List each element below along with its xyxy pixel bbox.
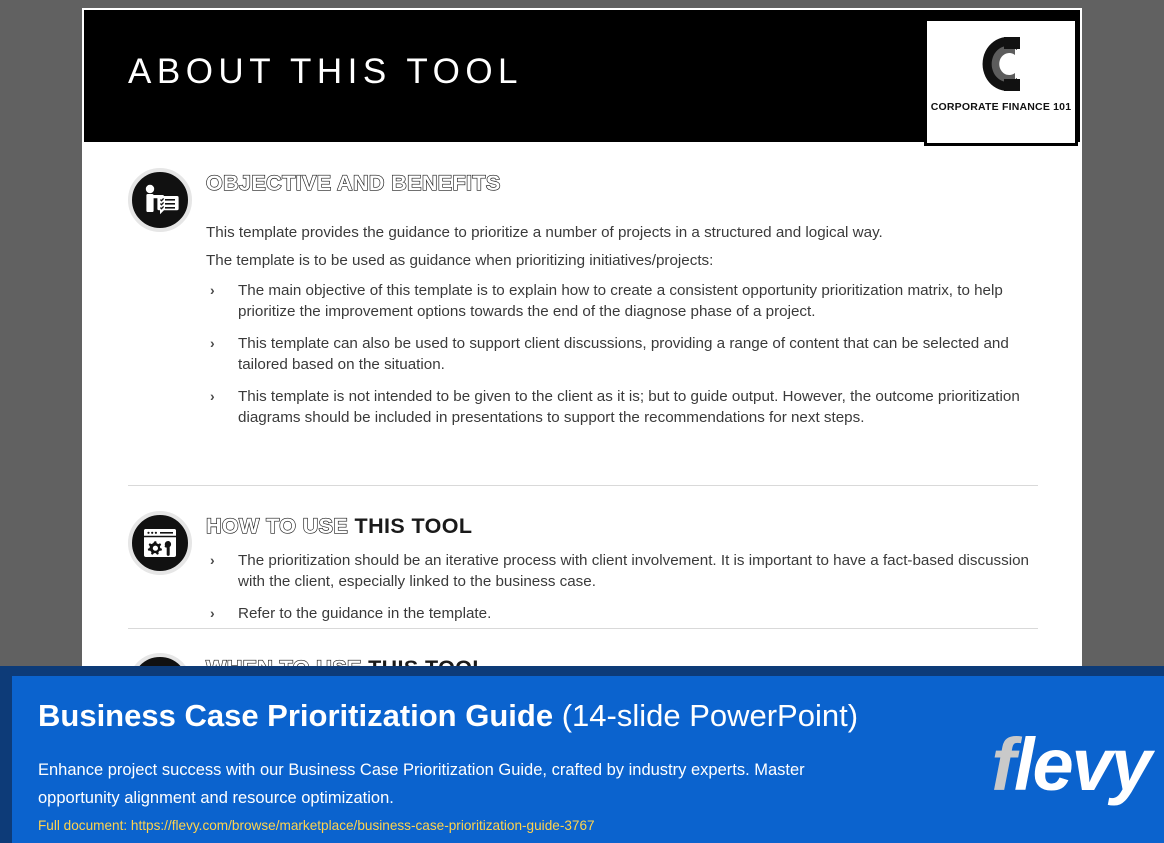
list-item-text: The main objective of this template is t… — [238, 282, 1003, 320]
flevy-logo-rest: levy — [1014, 723, 1150, 806]
chevron-bullet-icon: › — [210, 603, 215, 624]
promo-title: Business Case Prioritization Guide (14-s… — [38, 698, 858, 734]
flevy-logo: flevy — [991, 728, 1150, 802]
chevron-bullet-icon: › — [210, 386, 215, 407]
chevron-bullet-icon: › — [210, 550, 215, 571]
list-item-text: This template is not intended to be give… — [238, 388, 1020, 426]
screenshot-root: ABOUT THIS TOOL CORPORATE FINANCE 101 — [0, 0, 1164, 843]
list-item: ›Refer to the guidance in the template. — [206, 604, 1038, 625]
flevy-logo-f: f — [991, 723, 1014, 806]
corporate-finance-101-c-logo-icon — [970, 29, 1032, 99]
chevron-bullet-icon: › — [210, 333, 215, 354]
section-heading-text: OBJECTIVE AND BENEFITS — [206, 171, 501, 195]
list-item-text: Refer to the guidance in the template. — [238, 605, 491, 622]
brand-logo-box: CORPORATE FINANCE 101 — [924, 18, 1078, 146]
section-paragraph: This template provides the guidance to p… — [206, 219, 1038, 247]
promo-document-link[interactable]: Full document: https://flevy.com/browse/… — [38, 818, 595, 833]
list-item: ›This template can also be used to suppo… — [206, 334, 1038, 375]
section-heading: OBJECTIVE AND BENEFITS — [206, 168, 1038, 198]
list-item: ›The main objective of this template is … — [206, 281, 1038, 322]
section-body: HOW TO USE THIS TOOL ›The prioritization… — [206, 511, 1038, 637]
flevy-promo-banner: Business Case Prioritization Guide (14-s… — [0, 666, 1164, 843]
promo-description: Enhance project success with our Busines… — [38, 756, 838, 812]
presenter-checklist-icon — [128, 168, 192, 232]
chevron-bullet-icon: › — [210, 280, 215, 301]
section-divider — [128, 485, 1038, 486]
promo-title-sub: (14-slide PowerPoint) — [553, 698, 858, 733]
section-bullet-list: ›The main objective of this template is … — [206, 281, 1038, 428]
section-divider — [128, 628, 1038, 629]
list-item-text: This template can also be used to suppor… — [238, 335, 1009, 373]
browser-gear-wrench-icon — [128, 511, 192, 575]
section-paragraph: The template is to be used as guidance w… — [206, 247, 1038, 275]
list-item: ›This template is not intended to be giv… — [206, 387, 1038, 428]
section-heading-text-part2: THIS TOOL — [355, 514, 473, 538]
slide-header-band: ABOUT THIS TOOL CORPORATE FINANCE 101 — [82, 8, 1082, 144]
promo-title-main: Business Case Prioritization Guide — [38, 698, 553, 733]
section-heading-text-part1: HOW TO USE — [206, 514, 355, 538]
slide-canvas: ABOUT THIS TOOL CORPORATE FINANCE 101 — [82, 8, 1082, 680]
promo-inner-panel: Business Case Prioritization Guide (14-s… — [12, 676, 1164, 843]
list-item-text: The prioritization should be an iterativ… — [238, 552, 1029, 590]
page-title: ABOUT THIS TOOL — [128, 52, 523, 92]
list-item: ›The prioritization should be an iterati… — [206, 551, 1038, 592]
section-body: OBJECTIVE AND BENEFITS This template pro… — [206, 168, 1038, 440]
brand-logo-caption: CORPORATE FINANCE 101 — [927, 101, 1075, 113]
section-heading: HOW TO USE THIS TOOL — [206, 511, 1038, 541]
section-bullet-list: ›The prioritization should be an iterati… — [206, 551, 1038, 625]
